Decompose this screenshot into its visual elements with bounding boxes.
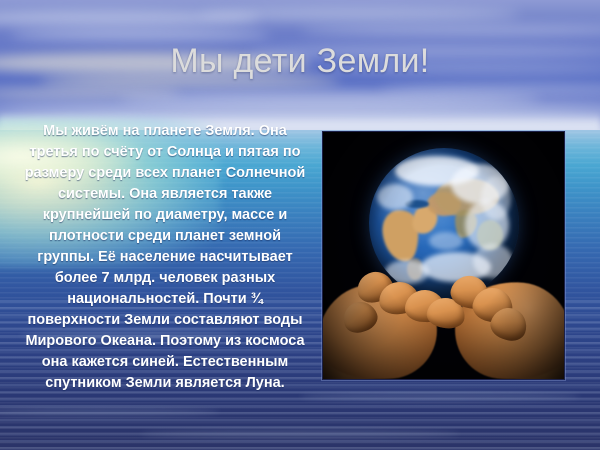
sea-ripple [300,392,580,401]
presentation-slide: Мы дети Земли! Мы живём на планете Земля… [0,0,600,450]
sea-ripple [140,430,460,438]
globe-cloud [473,244,513,278]
globe-cloud [429,232,463,250]
cloud-streak [200,8,520,20]
hands-holding-earth-photo [322,131,565,380]
slide-title: Мы дети Земли! [0,40,600,82]
slide-body-text: Мы живём на планете Земля. Она третья по… [24,121,306,394]
cloud-streak [10,30,270,40]
globe-cloud [377,184,413,210]
photo-canvas [323,132,564,379]
cloud-streak [300,26,600,35]
earth-globe [369,148,519,298]
globe-cloud [481,176,511,220]
